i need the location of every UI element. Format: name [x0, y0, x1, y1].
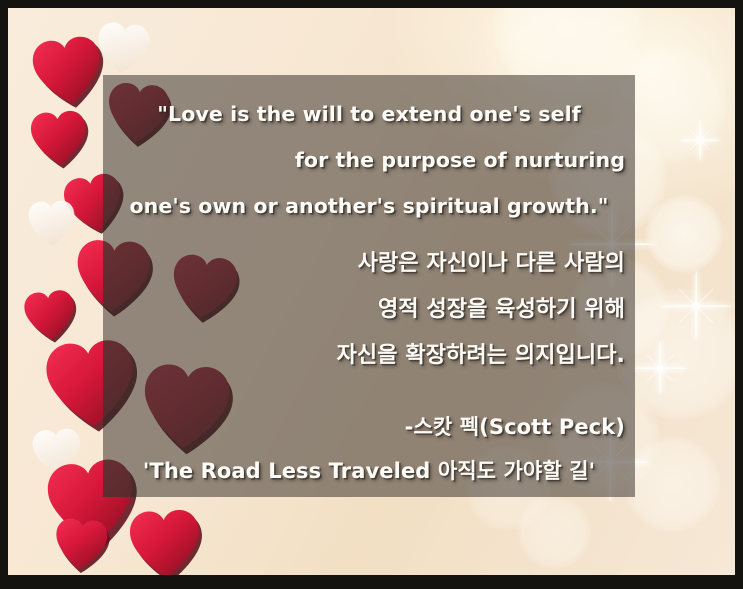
quote-line-en-2: for the purpose of nurturing: [109, 137, 629, 183]
heart-red-12: [124, 504, 206, 575]
quote-line-ko-2: 영적 성장을 육성하기 위해: [109, 287, 629, 333]
heart-white-2: [25, 197, 80, 252]
quote-line-en-3: one's own or another's spiritual growth.…: [109, 183, 629, 229]
sparkle-2: [661, 271, 731, 341]
sparkle-5: [680, 120, 720, 160]
heart-red-1: [25, 29, 111, 115]
sparkle-3: [633, 341, 687, 395]
heart-red-11: [50, 514, 113, 575]
quote-line-en-1: "Love is the will to extend one's self: [109, 91, 629, 137]
bokeh-10: [517, 495, 591, 569]
quote-panel: "Love is the will to extend one's self f…: [103, 75, 635, 497]
quote-line-ko-3: 자신을 확장하려는 의지입니다.: [109, 333, 629, 379]
picture-frame: "Love is the will to extend one's self f…: [0, 0, 743, 589]
heart-white-1: [91, 17, 155, 81]
heart-red-2: [26, 106, 92, 172]
card-canvas: "Love is the will to extend one's self f…: [8, 8, 735, 575]
quote-spacer-1: [109, 229, 629, 241]
quote-attribution-author: -스캇 펙(Scott Peck): [109, 405, 629, 449]
heart-white-3: [28, 424, 86, 482]
heart-red-6: [19, 285, 81, 347]
bokeh-8: [624, 436, 720, 532]
quote-attribution-source: 'The Road Less Traveled 아직도 가야할 길': [109, 449, 629, 493]
bokeh-4: [645, 195, 723, 273]
quote-line-ko-1: 사랑은 자신이나 다른 사람의: [109, 241, 629, 287]
quote-spacer-2: [109, 379, 629, 405]
